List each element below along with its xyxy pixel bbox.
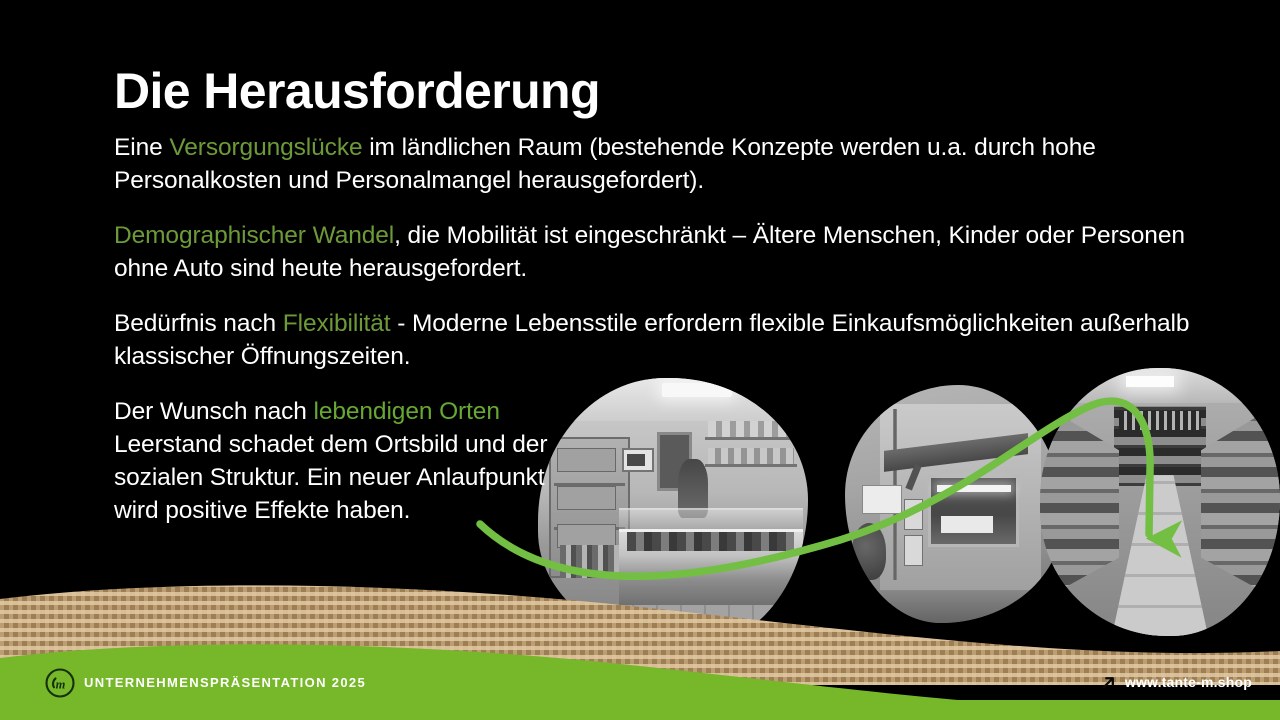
paragraph-flexibilitaet: Bedürfnis nach Flexibilität - Moderne Le…	[114, 307, 1214, 373]
paragraph-3-highlight: Flexibilität	[283, 310, 391, 337]
photo-store-poster	[904, 499, 924, 530]
photo-deli-microwave	[622, 448, 654, 472]
footer-content: m UNTERNEHMENSPRÄSENTATION 2025 www.tant…	[0, 658, 1280, 720]
photo-deli-upper-goods	[708, 448, 794, 464]
tante-m-logo-icon[interactable]: m	[44, 667, 76, 699]
paragraph-3-lead: Bedürfnis nach	[114, 310, 283, 337]
photo-deli-upper-shelf	[705, 464, 797, 467]
footer-presentation-label: UNTERNEHMENSPRÄSENTATION 2025	[84, 675, 366, 690]
photo-deli-shelf-box	[557, 448, 616, 472]
logo-letter: m	[56, 677, 66, 691]
paragraph-demographischer-wandel: Demographischer Wandel, die Mobilität is…	[114, 219, 1214, 285]
paragraph-4-highlight: lebendigen Orten	[313, 398, 499, 425]
photo-deli-upper-shelf	[705, 437, 797, 440]
paragraph-lebendige-orte: Der Wunsch nach lebendigen Orten Leersta…	[114, 395, 564, 527]
photo-store-poster	[904, 535, 924, 566]
photo-deli-ceiling-light	[662, 383, 732, 397]
photo-deli-upper-goods	[708, 421, 794, 437]
photo-deli-shelf-box	[557, 486, 616, 510]
paragraph-1-lead: Eine	[114, 134, 169, 161]
paragraph-4-lead: Der Wunsch nach	[114, 398, 313, 425]
presentation-slide: Die Herausforderung Eine Versorgungslück…	[0, 0, 1280, 720]
paragraph-1-highlight: Versorgungslücke	[169, 134, 362, 161]
photo-store-wall-plaque	[862, 485, 901, 514]
arrow-up-right-icon	[1101, 675, 1116, 690]
website-link[interactable]: www.tante-m.shop	[1101, 674, 1252, 690]
paragraph-versorgungsluecke: Eine Versorgungslücke im ländlichen Raum…	[114, 131, 1214, 197]
photo-deli-counter-goods	[627, 532, 794, 551]
paragraph-4-rest: Leerstand schadet dem Ortsbild und der s…	[114, 431, 547, 524]
photo-aisle-ceiling-light	[1126, 376, 1174, 387]
photo-store-interior-lights	[937, 485, 1011, 492]
page-title: Die Herausforderung	[114, 64, 600, 118]
website-link-text: www.tante-m.shop	[1125, 674, 1252, 690]
photo-store-window-sign	[941, 516, 993, 533]
photo-aisle-bottles	[1119, 411, 1201, 430]
paragraph-2-highlight: Demographischer Wandel	[114, 222, 394, 249]
